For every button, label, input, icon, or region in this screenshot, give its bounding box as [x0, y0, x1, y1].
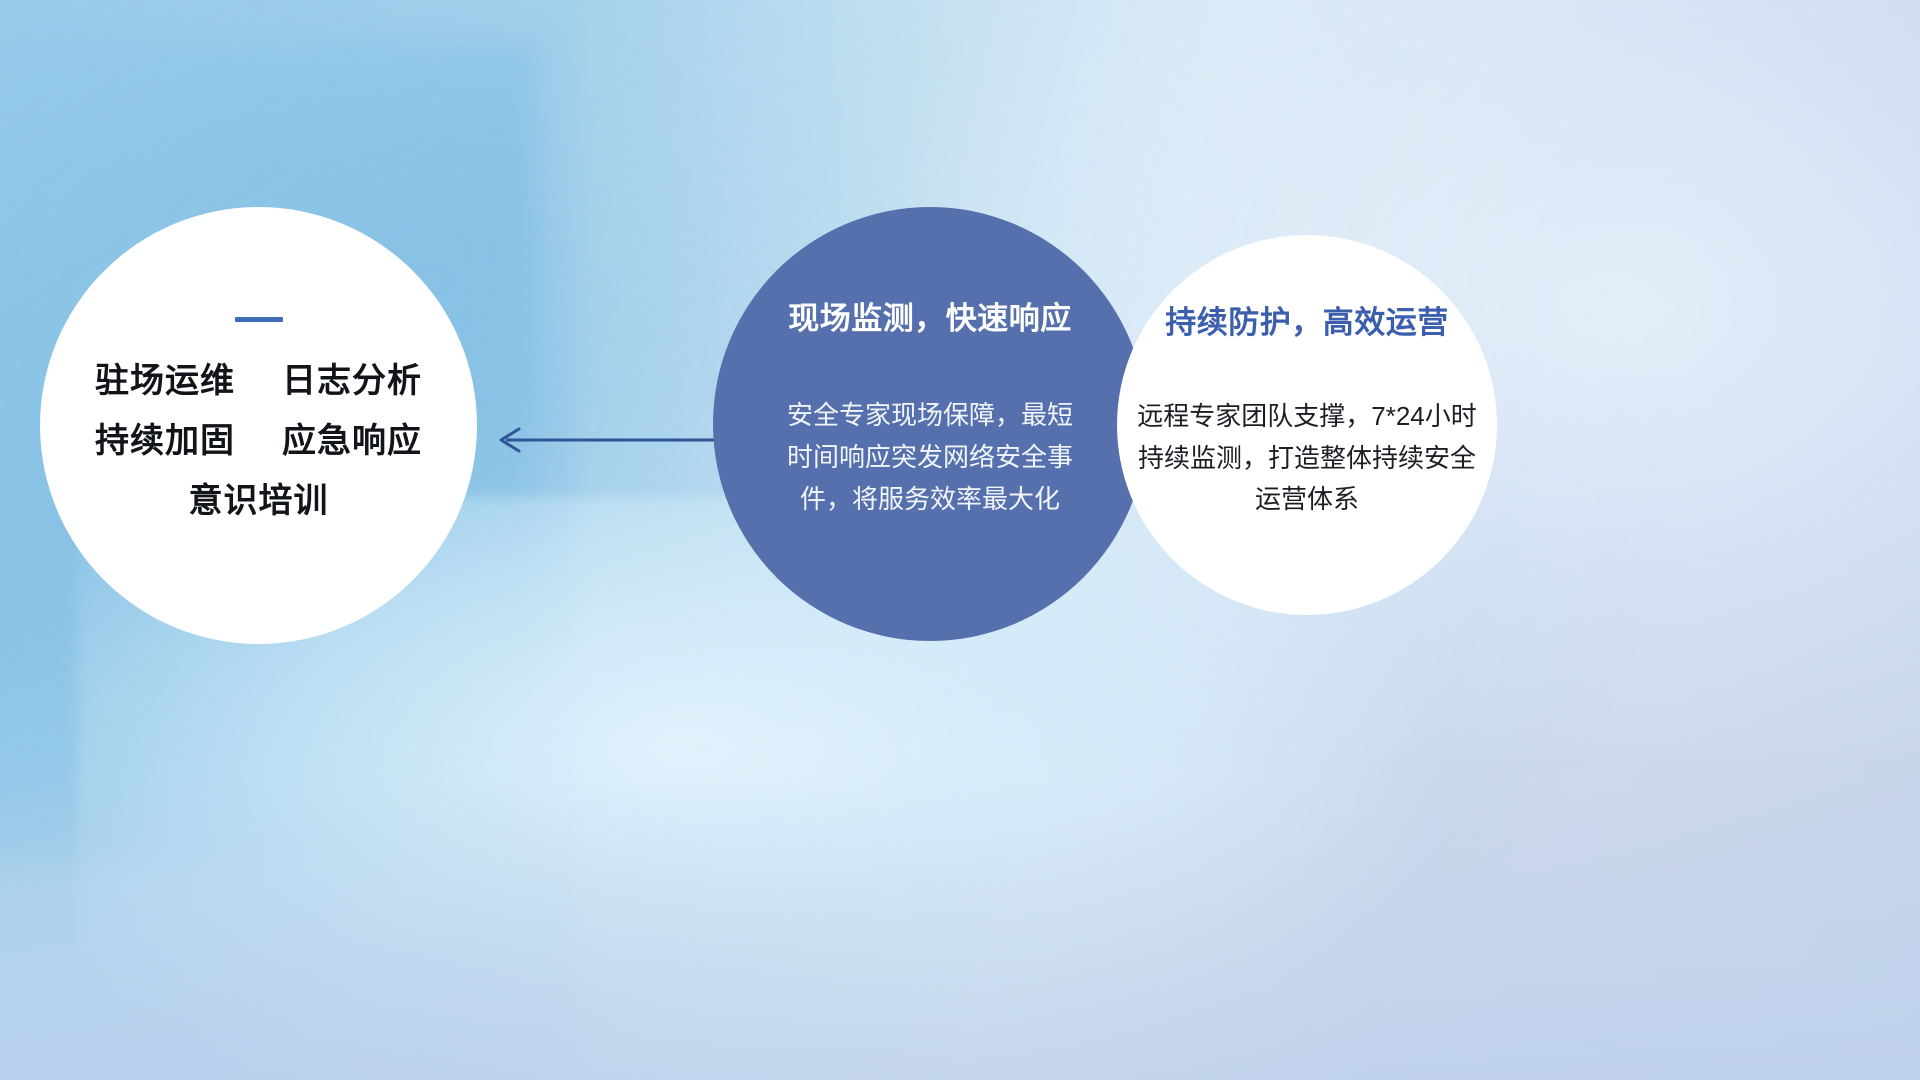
- capability-circle-right-content: 持续防护，高效运营 远程专家团队支撑，7*24小时持续监测，打造整体持续安全运营…: [1117, 297, 1497, 521]
- capability-circle-left: 驻场运维 日志分析 持续加固 应急响应 意识培训: [40, 207, 477, 644]
- arrow-left-icon: [492, 418, 717, 462]
- middle-circle-title: 现场监测，快速响应: [713, 293, 1147, 338]
- capability-tag-list: 驻场运维 日志分析 持续加固 应急响应 意识培训: [40, 364, 477, 518]
- right-circle-body: 远程专家团队支撑，7*24小时持续监测，打造整体持续安全运营体系: [1129, 396, 1485, 521]
- capability-tag-row-1: 驻场运维 日志分析: [40, 364, 477, 398]
- capability-tag-onsite-ops: 驻场运维: [95, 362, 235, 400]
- capability-circle-middle-content: 现场监测，快速响应 安全专家现场保障，最短时间响应突发网络安全事件，将服务效率最…: [713, 293, 1147, 520]
- capability-tag-hardening: 持续加固: [95, 422, 235, 460]
- slide-canvas: 驻场运维 日志分析 持续加固 应急响应 意识培训 现场监测，快速响应 安全专家现…: [0, 0, 1920, 1080]
- capability-circle-left-content: 驻场运维 日志分析 持续加固 应急响应 意识培训: [40, 317, 477, 518]
- capability-circle-right: 持续防护，高效运营 远程专家团队支撑，7*24小时持续监测，打造整体持续安全运营…: [1117, 235, 1497, 615]
- capability-circle-middle: 现场监测，快速响应 安全专家现场保障，最短时间响应突发网络安全事件，将服务效率最…: [713, 207, 1147, 641]
- capability-tag-incident-response: 应急响应: [282, 422, 422, 460]
- capability-tag-row-2: 持续加固 应急响应: [40, 424, 477, 458]
- capability-tag-awareness-training: 意识培训: [189, 482, 329, 520]
- capability-tag-log-analysis: 日志分析: [282, 362, 422, 400]
- right-circle-title: 持续防护，高效运营: [1117, 297, 1497, 342]
- horizontal-dash-icon: [235, 317, 283, 322]
- middle-circle-body: 安全专家现场保障，最短时间响应突发网络安全事件，将服务效率最大化: [780, 394, 1080, 520]
- capability-tag-row-3: 意识培训: [40, 484, 477, 518]
- background-wash-footer: [0, 778, 1920, 1080]
